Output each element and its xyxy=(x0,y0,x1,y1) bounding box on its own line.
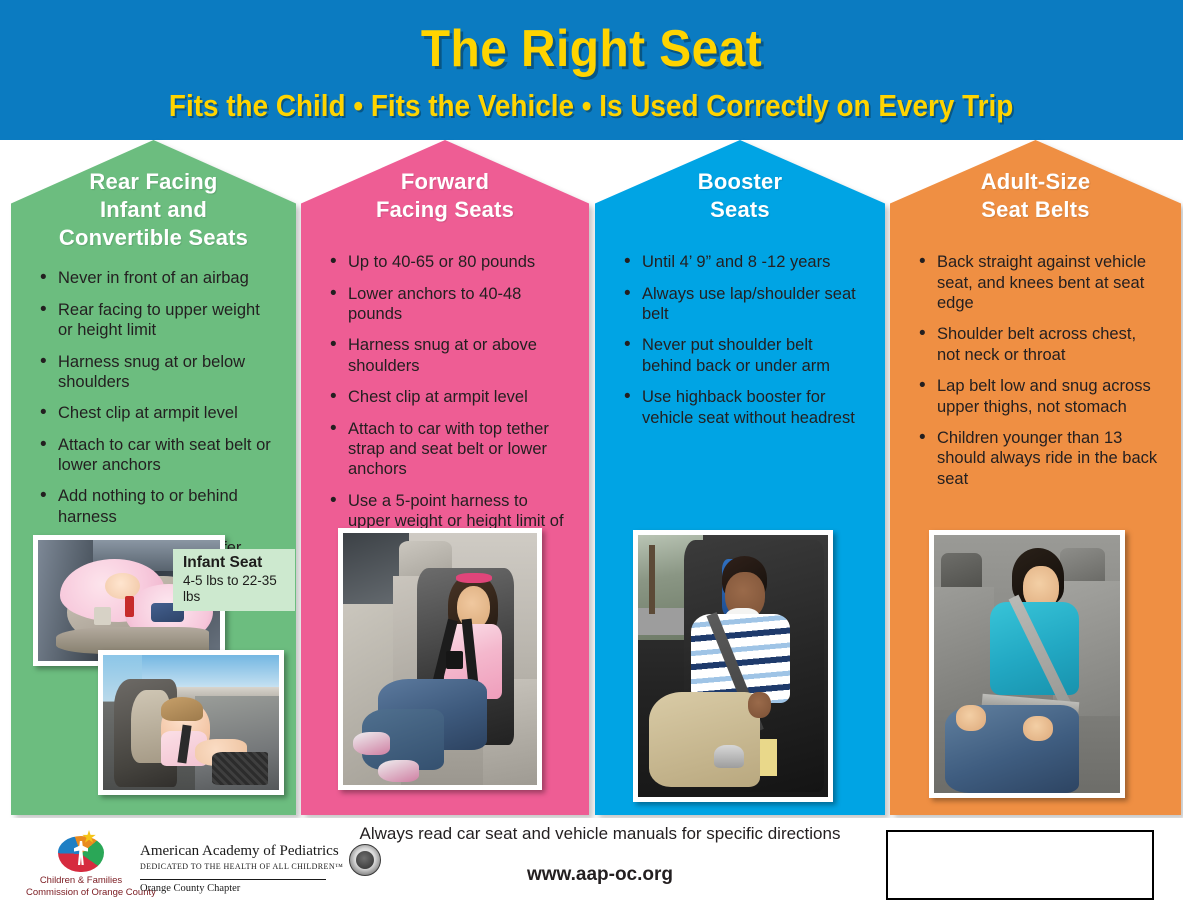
caption-title: Infant Seat xyxy=(183,554,286,572)
list-item: Lower anchors to 40-48 pounds xyxy=(329,284,567,325)
column-adult-belts: Adult-Size Seat Belts Back straight agai… xyxy=(890,140,1181,815)
page-title: The Right Seat xyxy=(421,22,762,77)
photo-booster-seat xyxy=(633,530,833,802)
column-title-line-1: Forward xyxy=(317,168,573,196)
column-title-line-1: Booster xyxy=(611,168,869,196)
list-item: Always use lap/shoulder seat belt xyxy=(623,284,863,325)
photo-adult-seat-belt xyxy=(929,530,1125,798)
column-title-booster: Booster Seats xyxy=(611,140,869,224)
column-title-line-2: Seats xyxy=(611,196,869,224)
list-item: Never in front of an airbag xyxy=(39,268,274,288)
list-item: Chest clip at armpit level xyxy=(329,387,567,407)
caption-subtitle: 4-5 lbs to 22-35 lbs xyxy=(183,573,286,605)
list-item: Attach to car with seat belt or lower an… xyxy=(39,435,274,476)
columns-container: Rear Facing Infant and Convertible Seats… xyxy=(0,140,1183,818)
list-item: Rear facing to upper weight or height li… xyxy=(39,300,274,341)
photo-convertible-seat xyxy=(98,650,284,795)
column-rear-facing: Rear Facing Infant and Convertible Seats… xyxy=(11,140,296,815)
page-subtitle: Fits the Child • Fits the Vehicle • Is U… xyxy=(169,88,1013,124)
bullet-list-booster: Until 4’ 9” and 8 -12 years Always use l… xyxy=(611,252,869,428)
list-item: Back straight against vehicle seat, and … xyxy=(918,252,1159,313)
column-title-forward-facing: Forward Facing Seats xyxy=(317,140,573,224)
bullet-list-adult-belts: Back straight against vehicle seat, and … xyxy=(906,252,1165,489)
list-item: Chest clip at armpit level xyxy=(39,403,274,423)
list-item: Use highback booster for vehicle seat wi… xyxy=(623,387,863,428)
column-title-line-2: Seat Belts xyxy=(906,196,1165,224)
cfc-logo-line-2: Commission of Orange County xyxy=(26,887,136,899)
aap-logo: American Academy of Pediatrics DEDICATED… xyxy=(140,844,350,894)
aap-name: American Academy of Pediatrics xyxy=(140,844,343,860)
column-title-rear-facing: Rear Facing Infant and Convertible Seats xyxy=(27,140,280,252)
column-booster: Booster Seats Until 4’ 9” and 8 -12 year… xyxy=(595,140,885,815)
column-title-line-1: Rear Facing xyxy=(27,168,280,196)
list-item: Never put shoulder belt behind back or u… xyxy=(623,335,863,376)
list-item: Lap belt low and snug across upper thigh… xyxy=(918,376,1159,417)
poster-footer: Children & Families Commission of Orange… xyxy=(0,818,1183,914)
column-title-line-1: Adult-Size xyxy=(906,168,1165,196)
list-item: Harness snug at or above shoulders xyxy=(329,335,567,376)
list-item: Children younger than 13 should always r… xyxy=(918,428,1159,489)
list-item: Shoulder belt across chest, not neck or … xyxy=(918,324,1159,365)
aap-chapter: Orange County Chapter xyxy=(140,883,350,894)
divider xyxy=(140,879,326,880)
caption-infant-seat: Infant Seat 4-5 lbs to 22-35 lbs xyxy=(173,549,295,611)
apple-family-icon xyxy=(52,830,110,872)
footer-url[interactable]: www.aap-oc.org xyxy=(330,864,870,886)
footer-placeholder-box xyxy=(886,830,1154,900)
column-title-line-3: Convertible Seats xyxy=(27,224,280,252)
aap-tagline: DEDICATED TO THE HEALTH OF ALL CHILDREN™ xyxy=(140,862,343,871)
column-forward-facing: Forward Facing Seats Up to 40-65 or 80 p… xyxy=(301,140,589,815)
column-title-line-2: Facing Seats xyxy=(317,196,573,224)
list-item: Until 4’ 9” and 8 -12 years xyxy=(623,252,863,272)
list-item: Up to 40-65 or 80 pounds xyxy=(329,252,567,272)
list-item: Attach to car with top tether strap and … xyxy=(329,419,567,480)
cfc-logo-line-1: Children & Families xyxy=(26,875,136,887)
column-title-adult-belts: Adult-Size Seat Belts xyxy=(906,140,1165,224)
list-item: Harness snug at or below shoulders xyxy=(39,352,274,393)
cfc-logo: Children & Families Commission of Orange… xyxy=(26,830,136,899)
footer-note: Always read car seat and vehicle manuals… xyxy=(330,824,870,844)
photo-forward-facing-seat xyxy=(338,528,542,790)
bullet-list-rear-facing: Never in front of an airbag Rear facing … xyxy=(27,268,280,579)
bullet-list-forward-facing: Up to 40-65 or 80 pounds Lower anchors t… xyxy=(317,252,573,552)
poster-root: The Right Seat Fits the Child • Fits the… xyxy=(0,0,1183,914)
poster-header: The Right Seat Fits the Child • Fits the… xyxy=(0,0,1183,140)
list-item: Add nothing to or behind harness xyxy=(39,486,274,527)
column-title-line-2: Infant and xyxy=(27,196,280,224)
